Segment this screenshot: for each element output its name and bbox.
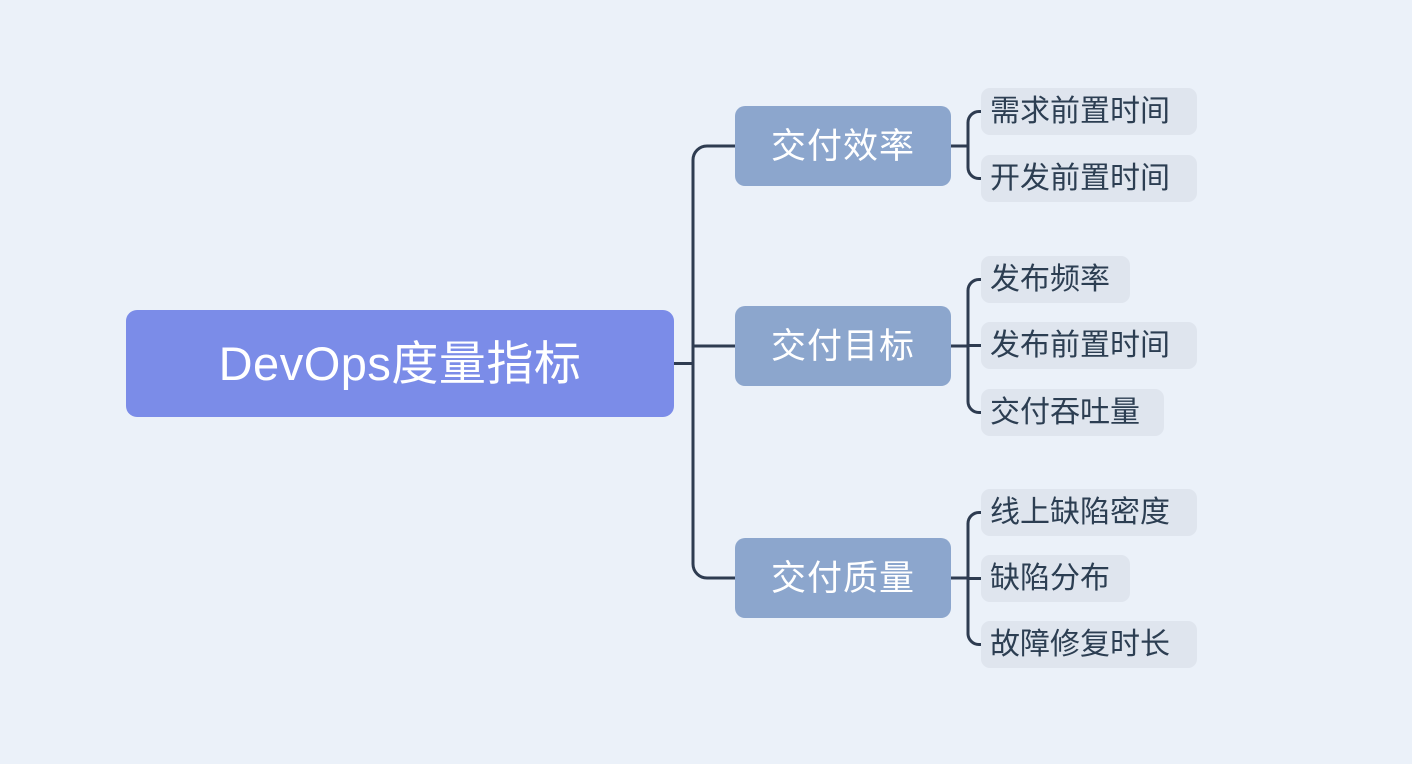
leaf-node-1-0[interactable]: 发布频率 (981, 256, 1130, 303)
leaf-spine-connector-1 (968, 280, 981, 413)
leaf-node-0-0[interactable]: 需求前置时间 (981, 88, 1197, 135)
leaf-node-2-1-label: 缺陷分布 (990, 564, 1110, 594)
leaf-node-1-1[interactable]: 发布前置时间 (981, 322, 1197, 369)
branch-node-1-label: 交付目标 (771, 329, 915, 364)
branch-node-0-label: 交付效率 (771, 129, 915, 164)
leaf-spine-connector-2 (968, 513, 981, 645)
root-node[interactable]: DevOps度量指标 (126, 310, 674, 417)
leaf-node-2-0-label: 线上缺陷密度 (990, 498, 1170, 528)
leaf-node-2-0[interactable]: 线上缺陷密度 (981, 489, 1197, 536)
leaf-node-1-1-label: 发布前置时间 (990, 331, 1170, 361)
leaf-node-2-2[interactable]: 故障修复时长 (981, 621, 1197, 668)
leaf-node-2-1[interactable]: 缺陷分布 (981, 555, 1130, 602)
branch-node-2-label: 交付质量 (771, 561, 915, 596)
leaf-node-1-0-label: 发布频率 (990, 265, 1110, 295)
leaf-node-2-2-label: 故障修复时长 (990, 630, 1170, 660)
root-node-label: DevOps度量指标 (219, 340, 582, 387)
leaf-spine-connector-0 (968, 112, 981, 179)
leaf-node-1-2[interactable]: 交付吞吐量 (981, 389, 1164, 436)
leaf-node-1-2-label: 交付吞吐量 (990, 398, 1140, 428)
branch-node-1[interactable]: 交付目标 (735, 306, 951, 386)
branch-node-2[interactable]: 交付质量 (735, 538, 951, 618)
branch-node-0[interactable]: 交付效率 (735, 106, 951, 186)
mindmap-canvas: DevOps度量指标交付效率需求前置时间开发前置时间交付目标发布频率发布前置时间… (0, 0, 1412, 764)
leaf-node-0-1[interactable]: 开发前置时间 (981, 155, 1197, 202)
main-trunk-connector (693, 146, 735, 578)
leaf-node-0-0-label: 需求前置时间 (990, 97, 1170, 127)
leaf-node-0-1-label: 开发前置时间 (990, 164, 1170, 194)
